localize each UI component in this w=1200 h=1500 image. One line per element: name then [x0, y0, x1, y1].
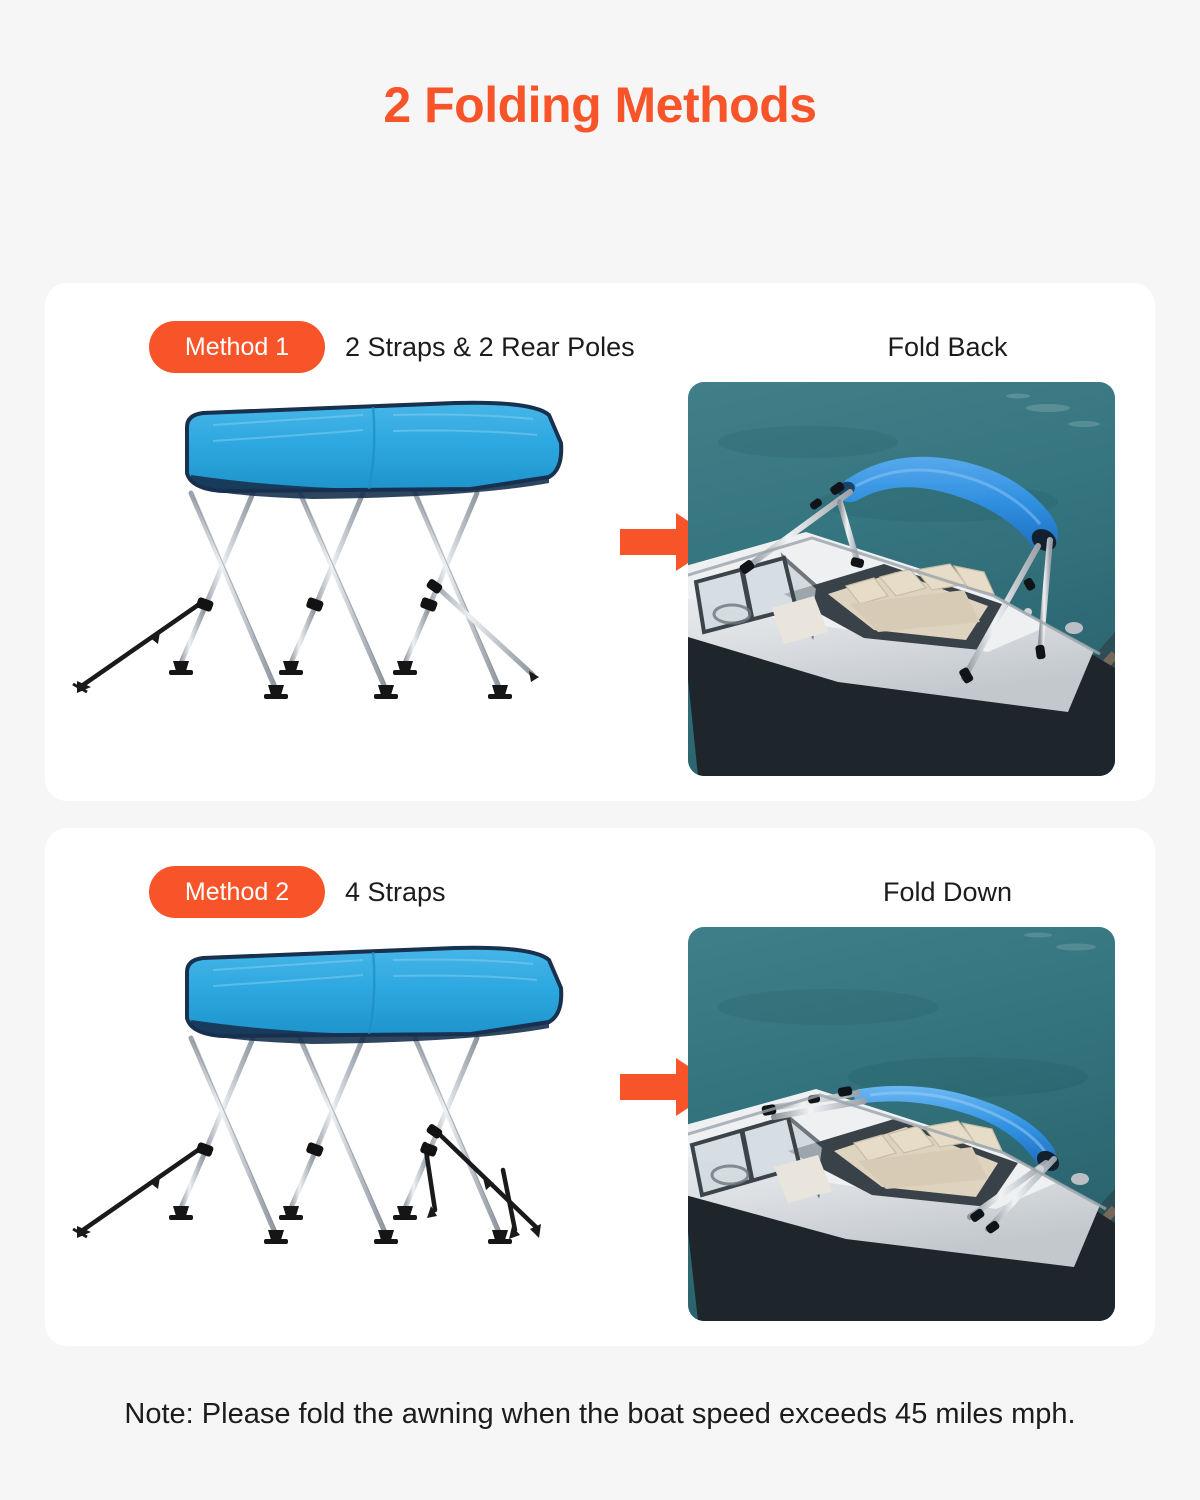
note-text: Note: Please fold the awning when the bo…: [0, 1398, 1200, 1431]
boat-photo-fold-back: [688, 382, 1115, 776]
method-2-description: 4 Straps: [345, 866, 446, 918]
method-1-description: 2 Straps & 2 Rear Poles: [345, 321, 635, 373]
bimini-illustration-method-1: [63, 385, 619, 785]
method-1-badge: Method 1: [149, 321, 325, 373]
method-2-fold-label: Fold Down: [735, 866, 1160, 918]
bimini-illustration-method-2: [63, 930, 619, 1330]
method-1-fold-label: Fold Back: [735, 321, 1160, 373]
method-card-2: Method 2 4 Straps Fold Down: [45, 828, 1155, 1346]
page-title: 2 Folding Methods: [0, 0, 1200, 130]
method-1-header: Method 1 2 Straps & 2 Rear Poles Fold Ba…: [45, 321, 1155, 373]
boat-photo-fold-down: [688, 927, 1115, 1321]
method-2-header: Method 2 4 Straps Fold Down: [45, 866, 1155, 918]
method-2-badge: Method 2: [149, 866, 325, 918]
method-card-1: Method 1 2 Straps & 2 Rear Poles Fold Ba…: [45, 283, 1155, 801]
